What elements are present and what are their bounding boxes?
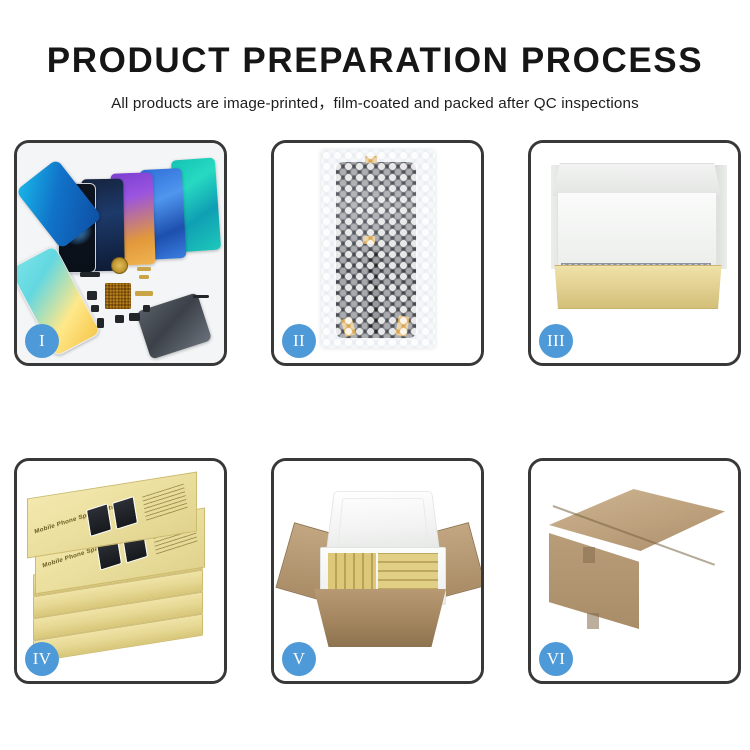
stacked-boxes-image: Mobile Phone Spare Parts Mobile Phone Sp… (17, 461, 224, 681)
part-flex-cable-3 (135, 291, 153, 296)
process-step-3[interactable]: III (528, 140, 741, 366)
phones-and-parts-image: I (17, 143, 224, 363)
part-screw-tray (105, 283, 131, 309)
part-connector-1 (91, 305, 99, 312)
box-stack: Mobile Phone Spare Parts Mobile Phone Sp… (25, 479, 224, 669)
bubble-wrapped-screen-image: II (274, 143, 481, 363)
carton-with-foam-image: V (274, 461, 481, 681)
box-front-kraft-panel (551, 265, 725, 309)
bubble-texture-offset (321, 150, 435, 348)
carton-tape-lower (587, 613, 599, 629)
step-badge-2: II (282, 324, 316, 358)
process-step-grid: I II III (14, 140, 736, 684)
carton-tape-upper (583, 547, 595, 563)
part-flex-cable-2 (139, 275, 149, 279)
process-step-5[interactable]: V (271, 458, 484, 684)
carton-front-panel (314, 589, 446, 647)
step-badge-6: VI (539, 642, 573, 676)
part-flex-cable-1 (137, 267, 151, 271)
box-spec-text-1 (142, 484, 188, 522)
open-box-with-foam-image: III (531, 143, 738, 363)
page-header: PRODUCT PREPARATION PROCESS All products… (0, 0, 750, 113)
part-camera-module (87, 291, 97, 300)
page-title: PRODUCT PREPARATION PROCESS (0, 0, 750, 80)
part-connector-3 (129, 313, 140, 321)
part-speaker (80, 272, 100, 277)
box-photo-1b (112, 496, 138, 530)
step-badge-5: V (282, 642, 316, 676)
process-step-4[interactable]: Mobile Phone Spare Parts Mobile Phone Sp… (14, 458, 227, 684)
process-step-1[interactable]: I (14, 140, 227, 366)
process-step-6[interactable]: VI (528, 458, 741, 684)
box-foam-liner (557, 193, 717, 265)
step-badge-3: III (539, 324, 573, 358)
part-screwdriver-tip (193, 295, 209, 298)
part-button-set (143, 305, 150, 312)
box-lid-back (553, 163, 721, 196)
step-badge-1: I (25, 324, 59, 358)
phone-back-housing (136, 292, 212, 359)
sealed-carton-image: VI (531, 461, 738, 681)
step-badge-4: IV (25, 642, 59, 676)
part-connector-2 (115, 315, 124, 323)
vibration-motor-part (111, 257, 128, 274)
process-step-2[interactable]: II (271, 140, 484, 366)
part-sim-tray (97, 318, 104, 328)
bubble-wrap-bag (321, 150, 435, 348)
box-photo-1a (86, 503, 112, 537)
page-subtitle: All products are image-printed，film-coat… (0, 80, 750, 113)
